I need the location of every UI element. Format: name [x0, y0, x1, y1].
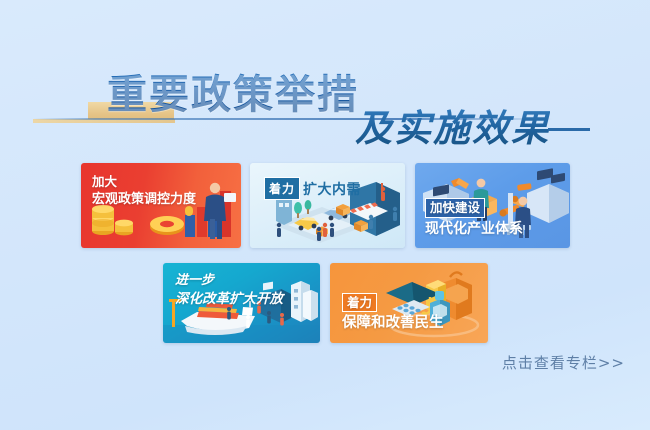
domestic-demand-illustration [250, 163, 405, 248]
card-industry-system-label: 加快建设 现代化产业体系 [425, 198, 523, 238]
card-macro-policy[interactable]: 加大 宏观政策调控力度 [81, 163, 241, 248]
card-livelihood[interactable]: 着力 保障和改善民生 [330, 263, 488, 343]
card-livelihood-label: 着力 保障和改善民生 [342, 292, 444, 333]
card-reform-opening-line2: 深化改革扩大开放 [175, 291, 283, 308]
card-macro-policy-line2: 宏观政策调控力度 [92, 192, 196, 208]
card-domestic-demand[interactable]: 着力 扩大内需 [250, 163, 405, 248]
card-reform-opening-line1: 进一步 [175, 273, 283, 289]
view-column-link[interactable]: 点击查看专栏>> [502, 352, 625, 373]
page-title-line2: 及实施效果 [355, 98, 550, 152]
card-industry-system-line2: 现代化产业体系 [425, 221, 523, 238]
card-domestic-demand-line1: 着力 [264, 177, 300, 200]
title-dash-icon [548, 128, 590, 131]
card-domestic-demand-label: 着力 扩大内需 [264, 177, 361, 200]
card-macro-policy-label: 加大 宏观政策调控力度 [92, 174, 196, 208]
page-title-line1: 重要政策举措 [107, 62, 359, 120]
card-livelihood-line2: 保障和改善民生 [342, 315, 444, 333]
headline-block: 重要政策举措 及实施效果 [0, 0, 650, 150]
card-reform-opening-label: 进一步 深化改革扩大开放 [175, 273, 283, 308]
card-livelihood-line1: 着力 [342, 293, 377, 313]
poster-canvas: 重要政策举措 及实施效果 [0, 0, 650, 430]
card-industry-system-line1: 加快建设 [425, 198, 485, 218]
card-industry-system[interactable]: 加快建设 现代化产业体系 [415, 163, 570, 248]
card-macro-policy-line1: 加大 [92, 174, 196, 190]
card-reform-opening[interactable]: 进一步 深化改革扩大开放 [163, 263, 320, 343]
card-domestic-demand-line2: 扩大内需 [303, 179, 361, 199]
